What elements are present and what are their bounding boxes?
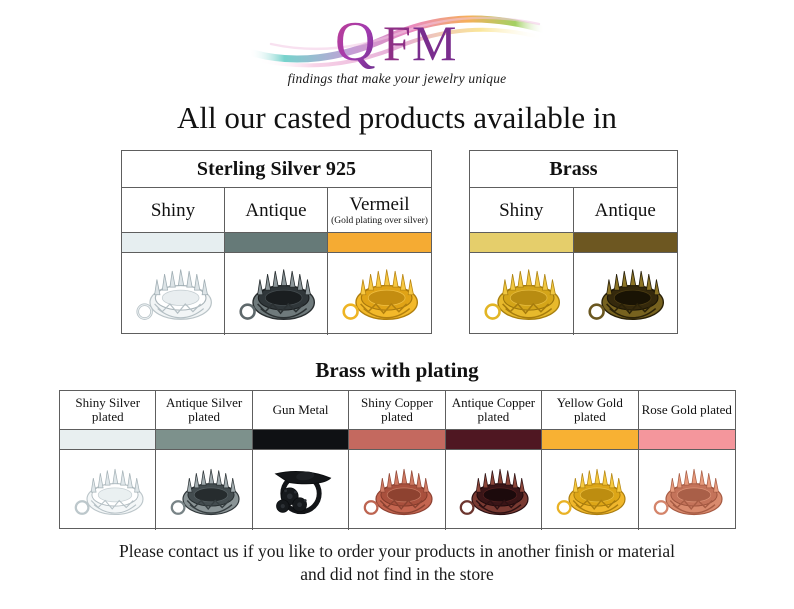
footer-line-1: Please contact us if you like to order y… [0,540,794,563]
column-header-antique-silver-plated: Antique Silver plated [156,391,252,429]
column-label: Vermeil [349,194,409,215]
color-swatch [122,233,224,252]
swatch-cell-antique-silver-plated [156,430,252,449]
crown-bezel-icon [542,450,637,530]
table-header-row: Shiny Silver plated Antique Silver plate… [60,391,735,430]
color-swatch [446,430,541,449]
column-label: Antique Copper plated [446,396,541,424]
column-label: Antique [595,200,656,221]
column-label: Rose Gold plated [642,403,732,417]
column-label: Shiny Silver plated [60,396,155,424]
svg-text:M: M [412,15,456,71]
color-swatch [349,430,444,449]
column-header-antique-copper-plated: Antique Copper plated [446,391,542,429]
qfm-logo-icon: Q F M [247,8,547,78]
column-header-gun-metal: Gun Metal [253,391,349,429]
swatch-cell-gun-metal [253,430,349,449]
color-swatch [60,430,155,449]
column-header-shiny-copper-plated: Shiny Copper plated [349,391,445,429]
color-swatch [574,233,678,252]
swatch-cell-shiny [122,233,225,252]
color-swatch [542,430,637,449]
brass-with-plating-table: Shiny Silver plated Antique Silver plate… [59,390,736,529]
crown-bezel-icon [639,450,735,530]
table-title-row: Sterling Silver 925 [122,151,431,188]
product-cell-shiny [122,253,225,335]
crown-bezel-icon [470,253,573,335]
crown-bezel-icon [156,450,251,530]
product-cell-antique-silver-plated [156,450,252,530]
product-cell-shiny [470,253,574,335]
floral-toggle-clasp-icon [253,450,348,530]
section-title: Brass with plating [0,358,794,383]
product-cell-yellow-gold-plated [542,450,638,530]
color-swatch [253,430,348,449]
footer-note: Please contact us if you like to order y… [0,540,794,586]
svg-text:Q: Q [335,11,375,73]
page-title: All our casted products available in [0,101,794,135]
column-header-shiny: Shiny [122,188,225,232]
color-swatch [328,233,431,252]
crown-bezel-icon [574,253,678,335]
product-row [122,253,431,335]
product-cell-shiny-silver-plated [60,450,156,530]
swatch-row [122,233,431,253]
brand-logo: Q F M findings that make your jewelry un… [0,8,794,94]
product-cell-rose-gold-plated [639,450,735,530]
swatch-cell-antique [225,233,328,252]
color-swatch [639,430,735,449]
footer-line-2: and did not find in the store [0,563,794,586]
crown-bezel-icon [60,450,155,530]
crown-bezel-icon [122,253,224,335]
column-header-rose-gold-plated: Rose Gold plated [639,391,735,429]
product-cell-antique-copper-plated [446,450,542,530]
crown-bezel-icon [349,450,444,530]
swatch-cell-antique [574,233,678,252]
poster-page: Q F M findings that make your jewelry un… [0,0,794,609]
column-header-vermeil: Vermeil (Gold plating over silver) [328,188,431,232]
swatch-cell-vermeil [328,233,431,252]
product-cell-antique [225,253,328,335]
column-label: Gun Metal [273,403,329,417]
brass-title: Brass [549,151,597,187]
crown-bezel-icon [225,253,327,335]
product-cell-antique [574,253,678,335]
brand-tagline: findings that make your jewelry unique [0,71,794,87]
product-row [470,253,677,335]
sterling-silver-table: Sterling Silver 925 Shiny Antique Vermei… [121,150,432,334]
product-cell-vermeil [328,253,431,335]
swatch-cell-shiny [470,233,574,252]
column-sublabel: (Gold plating over silver) [331,216,428,226]
swatch-row [60,430,735,450]
table-header-row: Shiny Antique Vermeil (Gold plating over… [122,188,431,233]
product-row [60,450,735,530]
column-label: Antique Silver plated [156,396,251,424]
brass-table: Brass Shiny Antique [469,150,678,334]
column-label: Yellow Gold plated [542,396,637,424]
swatch-cell-rose-gold-plated [639,430,735,449]
color-swatch [225,233,327,252]
crown-bezel-icon [328,253,431,335]
color-swatch [470,233,573,252]
swatch-cell-shiny-silver-plated [60,430,156,449]
swatch-row [470,233,677,253]
column-header-shiny: Shiny [470,188,574,232]
column-label: Antique [245,200,306,221]
color-swatch [156,430,251,449]
sterling-silver-title: Sterling Silver 925 [197,151,356,187]
column-label: Shiny Copper plated [349,396,444,424]
column-header-antique: Antique [225,188,328,232]
swatch-cell-shiny-copper-plated [349,430,445,449]
product-cell-gun-metal [253,450,349,530]
table-header-row: Shiny Antique [470,188,677,233]
column-label: Shiny [499,200,543,221]
column-header-antique: Antique [574,188,678,232]
product-cell-shiny-copper-plated [349,450,445,530]
column-header-shiny-silver-plated: Shiny Silver plated [60,391,156,429]
column-header-yellow-gold-plated: Yellow Gold plated [542,391,638,429]
table-title-row: Brass [470,151,677,188]
swatch-cell-antique-copper-plated [446,430,542,449]
column-label: Shiny [151,200,195,221]
swatch-cell-yellow-gold-plated [542,430,638,449]
svg-text:F: F [383,15,411,71]
crown-bezel-icon [446,450,541,530]
